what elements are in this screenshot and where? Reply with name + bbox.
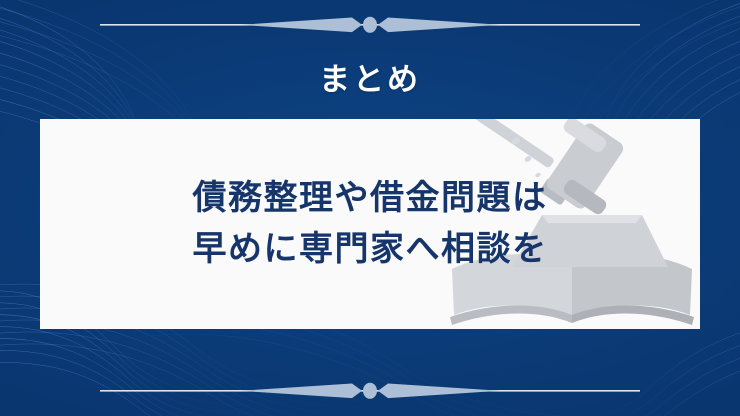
top-divider [0, 10, 740, 40]
divider-left-arrow [240, 18, 362, 33]
divider-left-arrow [240, 384, 362, 399]
card-line-1: 債務整理や借金問題は [193, 178, 548, 219]
content-card: 債務整理や借金問題は 早めに専門家へ相談を [40, 119, 700, 329]
card-line-2: 早めに専門家へ相談を [193, 229, 548, 270]
divider-right-arrow [378, 18, 500, 33]
divider-right-arrow [378, 384, 500, 399]
slide-root: まとめ [0, 0, 740, 416]
page-title: まとめ [0, 62, 740, 99]
divider-center-dot [363, 17, 377, 33]
bottom-divider [0, 376, 740, 406]
divider-center-dot [363, 383, 377, 399]
card-text-block: 債務整理や借金問題は 早めに専門家へ相談を [40, 119, 700, 329]
